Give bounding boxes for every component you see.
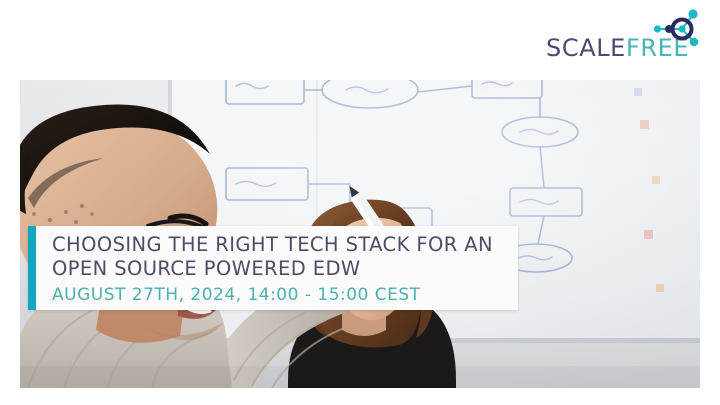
banner-body: CHOOSING THE RIGHT TECH STACK FOR AN OPE…	[36, 226, 518, 310]
webinar-title-line-2: OPEN SOURCE POWERED EDW	[52, 257, 508, 281]
brand-logo[interactable]: SCALEFREE	[545, 8, 705, 66]
title-banner: CHOOSING THE RIGHT TECH STACK FOR AN OPE…	[28, 226, 518, 310]
webinar-datetime: AUGUST 27TH, 2024, 14:00 - 15:00 CEST	[52, 285, 508, 305]
network-node-icon	[651, 8, 703, 50]
webinar-announcement-slide: SCALEFREE	[0, 0, 720, 405]
banner-accent-bar	[28, 226, 36, 310]
webinar-title-line-1: CHOOSING THE RIGHT TECH STACK FOR AN	[52, 233, 508, 257]
brand-wordmark-scale: SCALE	[546, 34, 626, 62]
